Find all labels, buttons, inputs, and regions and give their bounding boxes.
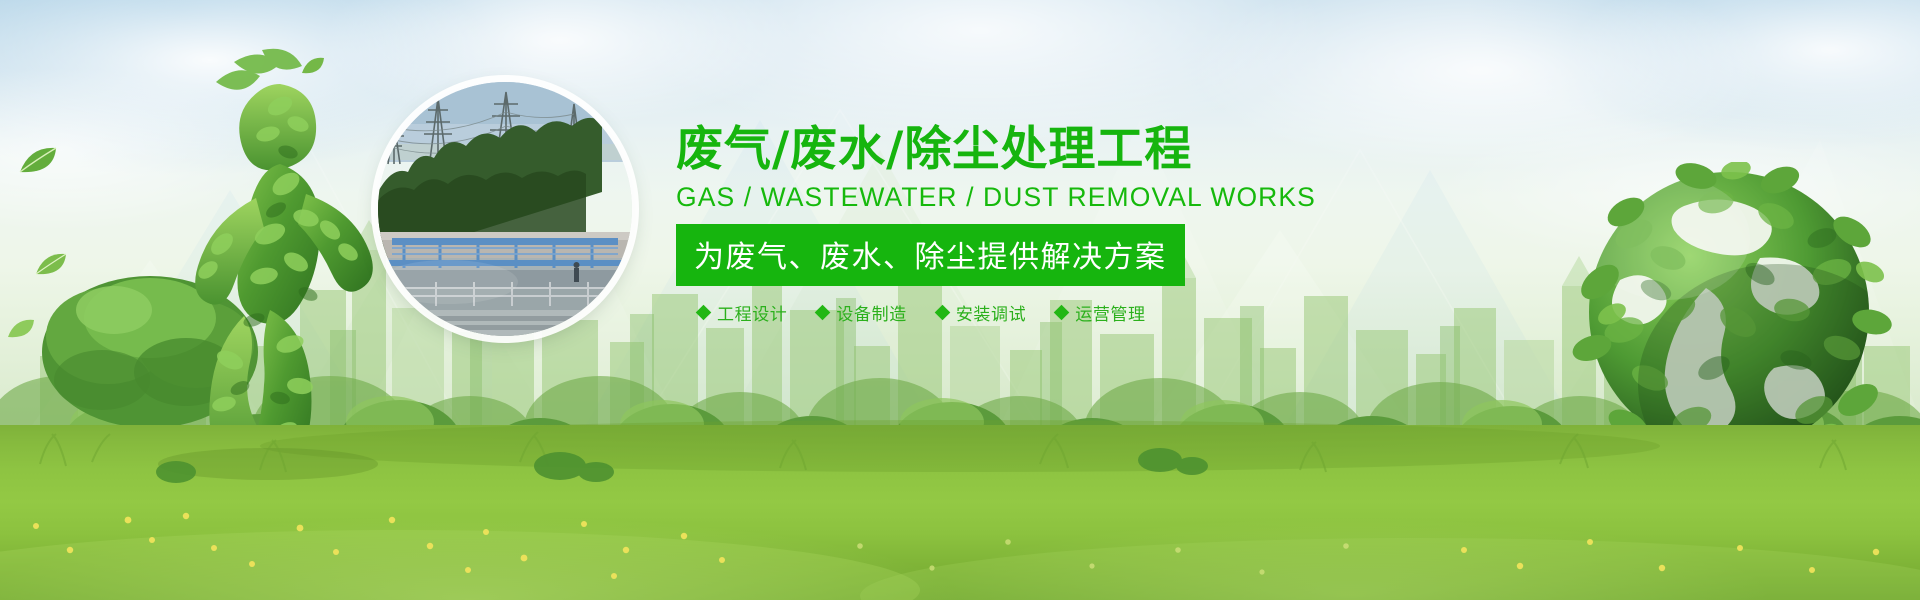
- feature-item-engineering-design: 工程设计: [698, 300, 787, 325]
- floating-leaf-icon: [34, 252, 68, 280]
- tagline-bar: 为废气、废水、除尘提供解决方案: [676, 224, 1185, 286]
- feature-item-equipment-manufacturing: 设备制造: [817, 300, 906, 325]
- feature-label: 运营管理: [1075, 300, 1145, 325]
- plant-photo-illustration: [378, 82, 632, 336]
- feature-list: 工程设计 设备制造 安装调试 运营管理: [698, 300, 1296, 325]
- diamond-bullet-icon: [935, 304, 951, 320]
- diamond-bullet-icon: [696, 304, 712, 320]
- floating-leaf-icon: [18, 146, 58, 178]
- hero-banner: 废气/废水/除尘处理工程 GAS / WASTEWATER / DUST REM…: [0, 0, 1920, 600]
- grass-detail-and-flowers: [0, 400, 1920, 600]
- feature-item-operation-management: 运营管理: [1056, 300, 1145, 325]
- diamond-bullet-icon: [815, 304, 831, 320]
- wastewater-plant-photo: [378, 82, 632, 336]
- feature-label: 安装调试: [956, 300, 1026, 325]
- feature-label: 工程设计: [717, 300, 787, 325]
- page-title: 废气/废水/除尘处理工程: [676, 124, 1296, 177]
- floating-leaf-icon: [6, 318, 36, 342]
- banner-text-block: 废气/废水/除尘处理工程 GAS / WASTEWATER / DUST REM…: [676, 124, 1296, 325]
- subtitle-english: GAS / WASTEWATER / DUST REMOVAL WORKS: [676, 182, 1296, 213]
- floating-leaf-icon: [300, 56, 326, 78]
- feature-item-installation-commissioning: 安装调试: [937, 300, 1026, 325]
- diamond-bullet-icon: [1054, 304, 1070, 320]
- feature-label: 设备制造: [836, 300, 906, 325]
